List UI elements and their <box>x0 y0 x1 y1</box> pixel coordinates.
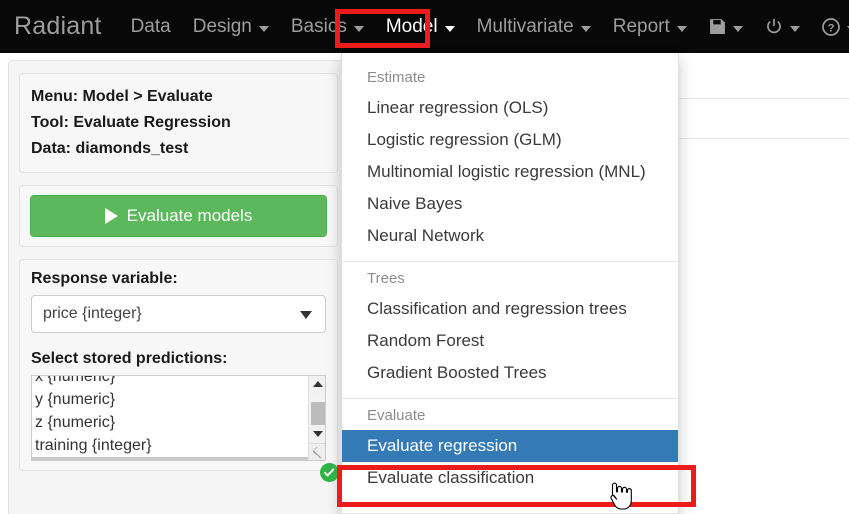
response-variable-value: price {integer} <box>43 305 142 323</box>
nav-item-basics[interactable]: Basics <box>280 0 375 53</box>
chevron-down-icon <box>790 26 800 32</box>
menu-item-random-forest[interactable]: Random Forest <box>342 325 678 357</box>
chevron-down-icon <box>354 26 364 32</box>
chevron-down-icon <box>677 26 687 32</box>
nav-item-label: Design <box>193 0 252 53</box>
menu-item-evaluate-regression[interactable]: Evaluate regression <box>342 430 678 462</box>
nav-item-label: Data <box>131 0 171 53</box>
evaluate-models-label: Evaluate models <box>127 206 253 226</box>
power-icon <box>765 18 783 36</box>
nav-item-label: Basics <box>291 0 347 53</box>
info-tool: Tool: Evaluate Regression <box>31 110 326 136</box>
nav-item-label: Model <box>386 0 438 53</box>
menu-item-multinomial-logistic-regression[interactable]: Multinomial logistic regression (MNL) <box>342 156 678 188</box>
list-item[interactable]: pred_reg {numeric} <box>32 457 325 461</box>
scrollbar-thumb[interactable] <box>311 402 325 425</box>
nav-item-data[interactable]: Data <box>120 0 182 53</box>
nav-item-model[interactable]: Model <box>375 0 466 53</box>
menu-item-gradient-boosted-trees[interactable]: Gradient Boosted Trees <box>342 357 678 389</box>
nav-item-label: Multivariate <box>477 0 574 53</box>
nav-item-multivariate[interactable]: Multivariate <box>466 0 602 53</box>
nav-item-save[interactable] <box>698 0 754 53</box>
stored-predictions-listbox[interactable]: x {numeric} y {numeric} z {numeric} trai… <box>31 375 326 461</box>
nav-item-label: Report <box>613 0 670 53</box>
application-window: Radiant Data Design Basics Model Multiva… <box>0 0 849 514</box>
menu-item-logistic-regression[interactable]: Logistic regression (GLM) <box>342 124 678 156</box>
listbox-resize-handle[interactable] <box>308 443 325 460</box>
chevron-down-icon <box>733 26 743 32</box>
nav-item-power[interactable] <box>754 0 811 53</box>
svg-text:?: ? <box>827 22 834 34</box>
sidebar: Menu: Model > Evaluate Tool: Evaluate Re… <box>8 60 349 514</box>
chevron-down-icon <box>259 26 269 32</box>
tool-info-panel: Menu: Model > Evaluate Tool: Evaluate Re… <box>19 73 338 173</box>
scroll-down-icon[interactable] <box>309 426 326 443</box>
scroll-up-icon[interactable] <box>309 376 326 393</box>
menu-item-linear-regression[interactable]: Linear regression (OLS) <box>342 92 678 124</box>
list-item[interactable]: training {integer} <box>32 434 325 457</box>
list-item[interactable]: z {numeric} <box>32 411 325 434</box>
dropdown-group-header: Estimate <box>342 61 678 92</box>
run-panel: Evaluate models <box>19 185 338 247</box>
nav-item-report[interactable]: Report <box>602 0 698 53</box>
info-menu: Menu: Model > Evaluate <box>31 84 326 110</box>
menu-item-naive-bayes[interactable]: Naive Bayes <box>342 188 678 220</box>
stored-predictions-label: Select stored predictions: <box>31 350 326 368</box>
menu-item-evaluate-classification[interactable]: Evaluate classification <box>342 462 678 494</box>
menu-item-classification-and-regression-trees[interactable]: Classification and regression trees <box>342 293 678 325</box>
dropdown-group-header: Trees <box>342 262 678 293</box>
save-icon <box>709 18 726 35</box>
menu-item-neural-network[interactable]: Neural Network <box>342 220 678 252</box>
nav-item-help[interactable]: ? <box>811 0 849 53</box>
evaluate-models-button[interactable]: Evaluate models <box>30 195 327 237</box>
response-variable-label: Response variable: <box>31 270 326 288</box>
info-data: Data: diamonds_test <box>31 136 326 162</box>
dropdown-group-header: Evaluate <box>342 399 678 430</box>
response-variable-select[interactable]: price {integer} <box>31 295 326 333</box>
app-brand[interactable]: Radiant <box>0 0 120 53</box>
chevron-down-icon <box>581 26 591 32</box>
status-check-icon <box>320 463 339 482</box>
list-item[interactable]: x {numeric} <box>32 375 325 388</box>
top-navbar: Radiant Data Design Basics Model Multiva… <box>0 0 849 53</box>
nav-item-design[interactable]: Design <box>182 0 280 53</box>
play-icon <box>105 208 118 224</box>
stored-predictions-list: x {numeric} y {numeric} z {numeric} trai… <box>32 375 325 461</box>
chevron-down-icon <box>445 26 455 32</box>
variable-selection-panel: Response variable: price {integer} Selec… <box>19 259 338 471</box>
list-item[interactable]: y {numeric} <box>32 388 325 411</box>
model-dropdown-menu: Estimate Linear regression (OLS) Logisti… <box>341 53 679 514</box>
chevron-down-icon <box>300 311 312 319</box>
help-icon: ? <box>822 18 840 36</box>
